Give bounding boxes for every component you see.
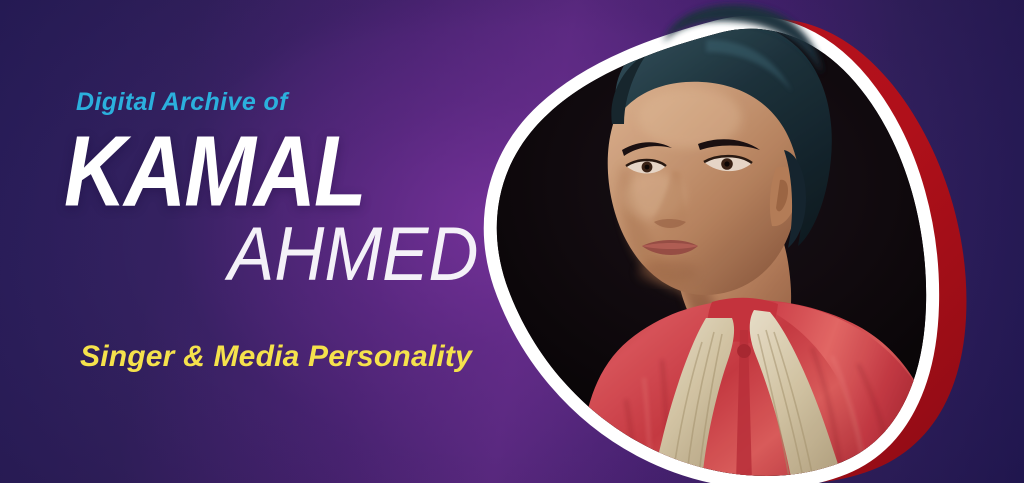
portrait-illustration [476, 0, 1024, 483]
tagline-text: Singer & Media Personality [80, 340, 472, 374]
page-title-last-name: AHMED [228, 216, 478, 292]
portrait-composition [476, 0, 1024, 483]
page-title-first-name: KAMAL [64, 122, 365, 222]
hero-banner: Digital Archive of KAMAL AHMED Singer & … [0, 0, 1024, 483]
eyebrow-text: Digital Archive of [76, 88, 288, 117]
headline-block: Digital Archive of KAMAL AHMED Singer & … [0, 0, 520, 483]
